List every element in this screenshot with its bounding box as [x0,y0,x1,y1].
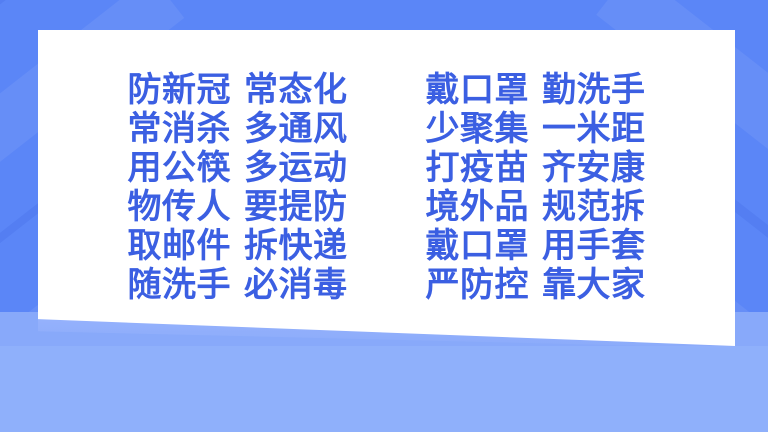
poster-canvas: 防新冠 常态化 常消杀 多通风 用公筷 多运动 物传人 要提防 取邮件 拆快递 … [0,0,768,432]
slogan-part-b: 一米距 [542,110,646,149]
slogan-part-a: 用公筷 [128,149,232,188]
slogan-part-a: 物传人 [128,188,232,227]
slogan-part-a: 严防控 [426,266,530,305]
slogan-part-a: 境外品 [426,188,530,227]
slogan-line: 防新冠 常态化 [128,71,348,110]
slogan-line: 境外品 规范拆 [426,188,646,227]
slogan-line: 少聚集 一米距 [426,110,646,149]
slogan-column-right: 戴口罩 勤洗手 少聚集 一米距 打疫苗 齐安康 境外品 规范拆 戴口罩 用手套 … [426,71,646,305]
slogan-line: 随洗手 必消毒 [128,266,348,305]
slogan-part-b: 齐安康 [542,149,646,188]
slogan-part-a: 打疫苗 [426,149,530,188]
slogan-part-a: 随洗手 [128,266,232,305]
slogan-line: 物传人 要提防 [128,188,348,227]
slogan-line: 打疫苗 齐安康 [426,149,646,188]
slogan-part-b: 靠大家 [542,266,646,305]
slogan-line: 严防控 靠大家 [426,266,646,305]
slogan-part-b: 必消毒 [244,266,348,305]
slogan-line: 用公筷 多运动 [128,149,348,188]
slogan-part-b: 常态化 [244,71,348,110]
slogan-part-b: 勤洗手 [542,71,646,110]
slogan-part-b: 要提防 [244,188,348,227]
slogan-column-left: 防新冠 常态化 常消杀 多通风 用公筷 多运动 物传人 要提防 取邮件 拆快递 … [128,71,348,305]
slogan-part-b: 规范拆 [542,188,646,227]
slogan-part-b: 用手套 [542,227,646,266]
slogan-line: 戴口罩 用手套 [426,227,646,266]
slogan-line: 取邮件 拆快递 [128,227,348,266]
slogan-line: 常消杀 多通风 [128,110,348,149]
slogan-part-a: 常消杀 [128,110,232,149]
slogan-part-b: 多通风 [244,110,348,149]
slogan-grid: 防新冠 常态化 常消杀 多通风 用公筷 多运动 物传人 要提防 取邮件 拆快递 … [38,30,735,346]
slogan-part-a: 戴口罩 [426,71,530,110]
slogan-part-a: 戴口罩 [426,227,530,266]
slogan-part-b: 拆快递 [244,227,348,266]
slogan-part-b: 多运动 [244,149,348,188]
slogan-line: 戴口罩 勤洗手 [426,71,646,110]
slogan-part-a: 防新冠 [128,71,232,110]
slogan-part-a: 取邮件 [128,227,232,266]
slogan-part-a: 少聚集 [426,110,530,149]
